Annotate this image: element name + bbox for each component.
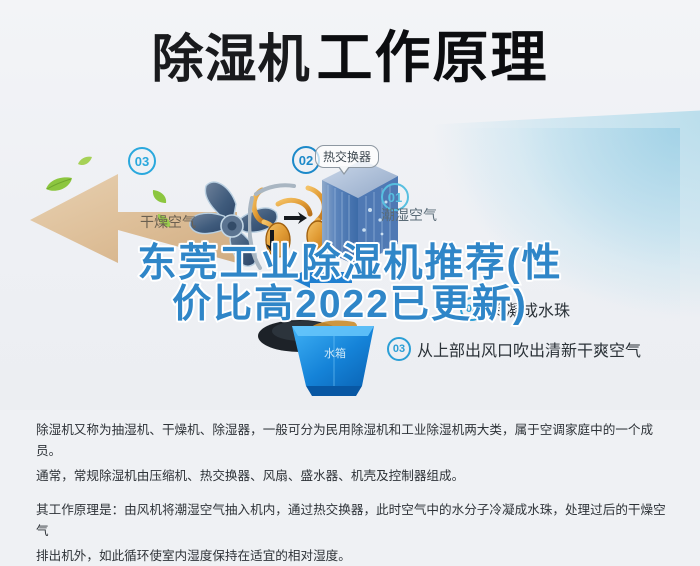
paragraph-spacer — [36, 491, 668, 500]
step-badge-03: 03 — [387, 337, 411, 361]
paragraph-2-line-1: 其工作原理是：由风机将潮湿空气抽入机内，通过热交换器，此时空气中的水分子冷凝成水… — [36, 500, 668, 542]
article-body: 除湿机又称为抽湿机、干燥机、除湿器，一般可分为民用除湿机和工业除湿机两大类，属于… — [36, 420, 668, 566]
leaf-icon — [150, 188, 168, 204]
heat-exchanger-callout: 热交换器 — [315, 145, 379, 168]
paragraph-1-line-1: 除湿机又称为抽湿机、干燥机、除湿器，一般可分为民用除湿机和工业除湿机两大类，属于… — [36, 420, 668, 462]
title-part-1: 除湿机 — [151, 31, 310, 89]
step-text-03: 从上部出风口吹出清新干爽空气 — [417, 337, 641, 361]
badge-03-dry-air: 03 — [128, 147, 156, 175]
moist-air-label: 潮湿空气 — [381, 205, 437, 225]
dry-air-label: 干燥空气 — [140, 212, 196, 232]
paragraph-2-line-2: 排出机外，如此循环使室内湿度保持在适宜的相对湿度。 — [36, 546, 668, 566]
step-badge-02: 02 — [460, 297, 484, 321]
air-inlet-arrow-icon — [290, 268, 352, 288]
leaf-icon — [44, 176, 74, 194]
water-tank-label: 水箱 — [324, 345, 346, 361]
leaf-icon — [77, 156, 93, 167]
paragraph-1-line-2: 通常，常规除湿机由压缩机、热交换器、风扇、盛水器、机壳及控制器组成。 — [36, 466, 668, 487]
title-part-2: 工作原理 — [317, 26, 549, 89]
page-root: 除湿机工作原理 — [0, 0, 700, 566]
step-line-02: 02 冷凝成水珠 — [460, 297, 570, 321]
infographic-panel: 除湿机工作原理 — [0, 0, 700, 410]
step-text-02: 冷凝成水珠 — [490, 297, 570, 321]
step-line-03: 03 从上部出风口吹出清新干爽空气 — [387, 337, 641, 361]
page-title: 除湿机工作原理 — [0, 30, 700, 86]
